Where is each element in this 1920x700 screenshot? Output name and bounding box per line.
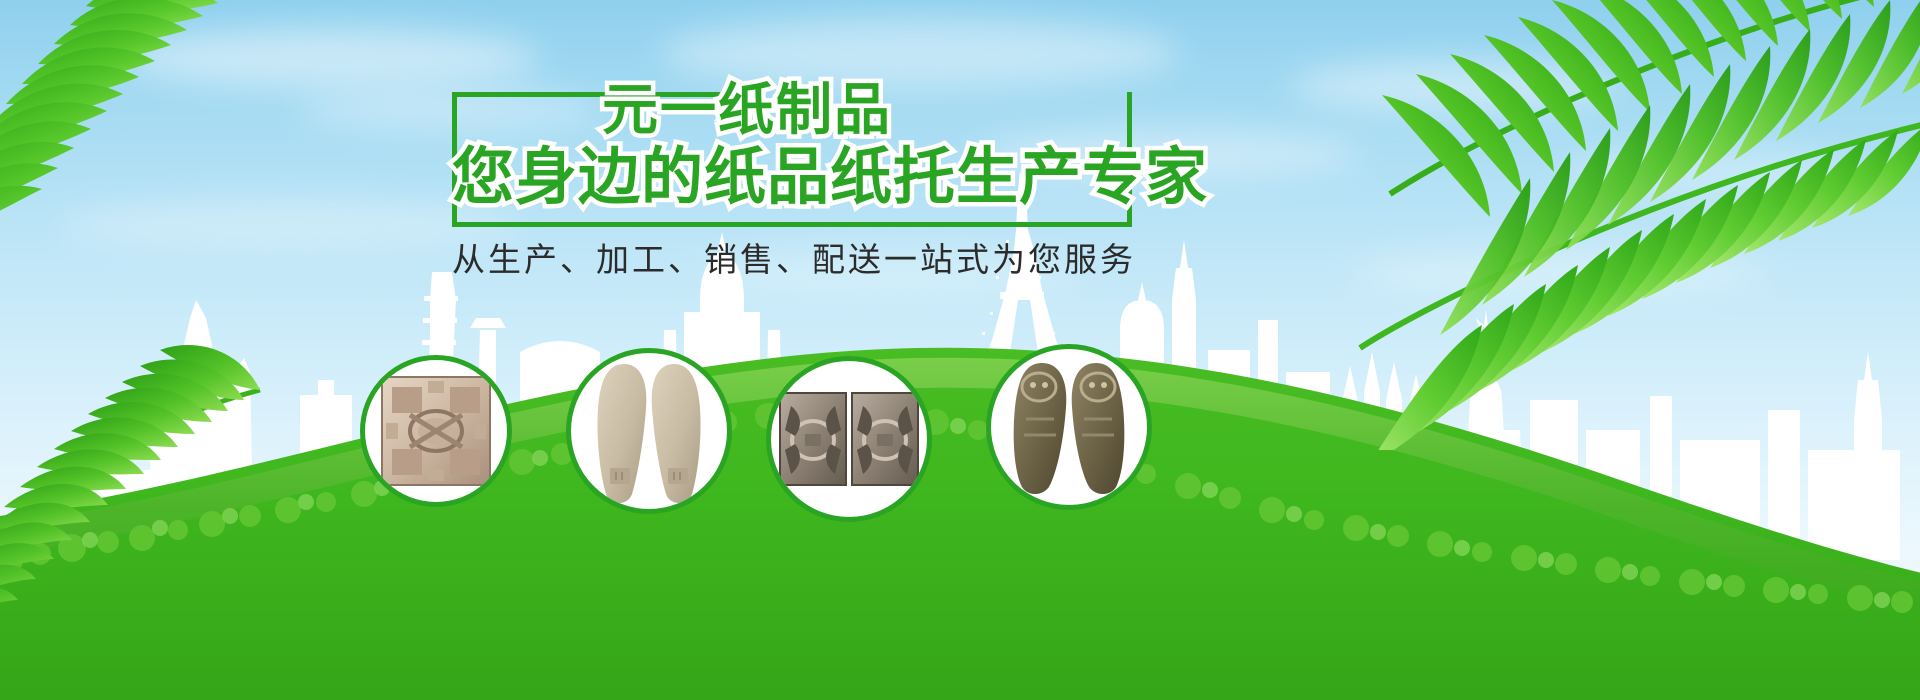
product-circle-2[interactable] bbox=[566, 348, 732, 514]
product-circle-4[interactable] bbox=[986, 344, 1152, 510]
headline-tagline: 您身边的纸品纸托生产专家 bbox=[452, 140, 1132, 214]
molded-pulp-tray-square-icon bbox=[380, 375, 492, 487]
banner-subtitle: 从生产、加工、销售、配送一站式为您服务 bbox=[452, 238, 1132, 282]
product-circle-3[interactable] bbox=[766, 356, 932, 522]
palm-frond-icon bbox=[1230, 0, 1920, 450]
palm-frond-icon bbox=[0, 0, 520, 340]
headline-frame: 元一纸制品 您身边的纸品纸托生产专家 bbox=[452, 92, 1132, 227]
frame-line-bottom bbox=[452, 222, 1132, 227]
headline-brand: 元一纸制品 bbox=[602, 80, 1132, 142]
promotional-banner: 元一纸制品 您身边的纸品纸托生产专家 从生产、加工、销售、配送一站式为您服务 bbox=[0, 0, 1920, 700]
product-circle-1[interactable] bbox=[360, 355, 512, 507]
molded-pulp-shoe-inserts-icon bbox=[584, 356, 714, 506]
palm-frond-icon bbox=[0, 330, 410, 690]
molded-pulp-packaging-pair-icon bbox=[779, 392, 919, 486]
molded-pulp-shoe-trees-icon bbox=[1006, 357, 1132, 497]
